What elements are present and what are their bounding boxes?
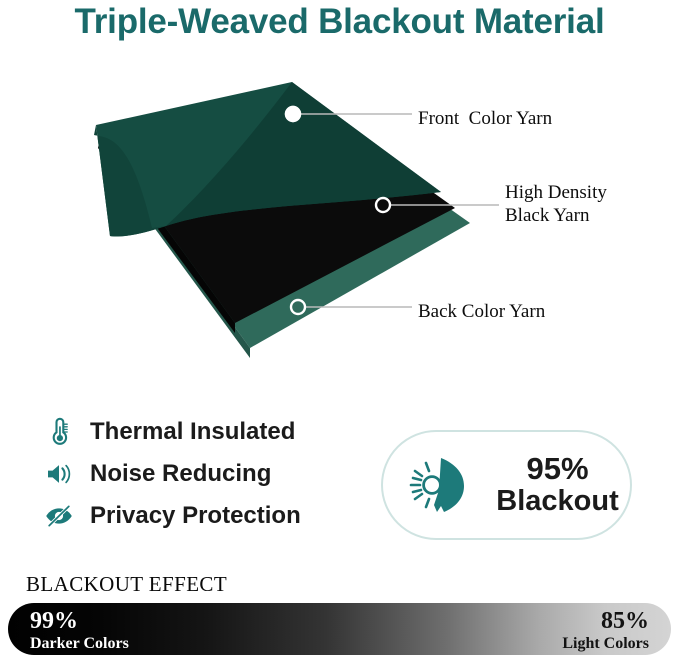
light-colors-caption: Light Colors: [562, 635, 649, 652]
thermometer-icon: [42, 415, 76, 449]
feature-label-noise-reducing: Noise Reducing: [90, 460, 271, 488]
sun-behind-curtain-icon: [401, 448, 475, 522]
feature-list: Thermal Insulated Noise Reducing: [42, 411, 372, 537]
blackout-percentage-badge: 95% Blackout: [381, 430, 632, 540]
feature-item-privacy-protection: Privacy Protection: [42, 495, 372, 537]
feature-label-thermal-insulated: Thermal Insulated: [90, 418, 295, 446]
blackout-effect-darker-group: 99% Darker Colors: [30, 609, 129, 652]
blackout-effect-light-group: 85% Light Colors: [562, 609, 649, 652]
blackout-effect-gradient-bar: 99% Darker Colors 85% Light Colors: [8, 603, 671, 655]
product-infographic: Triple-Weaved Blackout Material: [0, 0, 679, 656]
blackout-word: Blackout: [485, 486, 630, 517]
speaker-sound-icon: [42, 457, 76, 491]
page-title: Triple-Weaved Blackout Material: [0, 2, 679, 42]
eye-slash-icon: [42, 499, 76, 533]
callout-label-back-color-yarn: Back Color Yarn: [418, 300, 545, 323]
feature-item-thermal-insulated: Thermal Insulated: [42, 411, 372, 453]
blackout-effect-heading: BLACKOUT EFFECT: [26, 572, 227, 597]
feature-item-noise-reducing: Noise Reducing: [42, 453, 372, 495]
light-colors-percent: 85%: [562, 609, 649, 635]
blackout-badge-text: 95% Blackout: [485, 453, 630, 517]
callout-label-high-density-black-yarn: High Density Black Yarn: [505, 181, 607, 227]
feature-label-privacy-protection: Privacy Protection: [90, 502, 301, 530]
callout-label-front-color-yarn: Front Color Yarn: [418, 107, 552, 130]
darker-colors-caption: Darker Colors: [30, 635, 129, 652]
blackout-percent: 95%: [485, 453, 630, 486]
darker-colors-percent: 99%: [30, 609, 129, 635]
